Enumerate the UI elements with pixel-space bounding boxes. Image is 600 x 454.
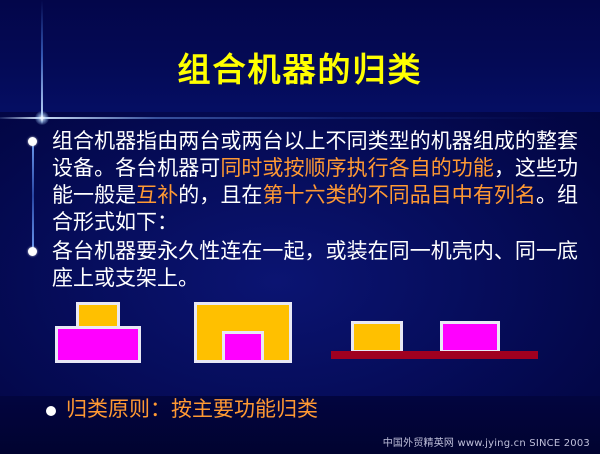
bullet-paragraph-1: 组合机器指由两台或两台以上不同类型的机器组成的整套设备。各台机器可同时或按顺序执…: [52, 128, 578, 236]
highlight-segment: 互补: [136, 183, 178, 207]
conclusion-text: 归类原则：按主要功能归类: [66, 396, 318, 423]
watermark-site-cn: 中国外贸精英网: [383, 438, 454, 449]
text-segment: 各台机器要永久性连在一起，或装在同一机壳内、同一底座上或支架上。: [52, 239, 578, 290]
round-bullet-icon: [28, 247, 37, 256]
watermark-since: SINCE 2003: [529, 438, 590, 449]
round-bullet-icon: [28, 137, 37, 146]
bullet-list: 组合机器指由两台或两台以上不同类型的机器组成的整套设备。各台机器可同时或按顺序执…: [26, 128, 578, 294]
round-bullet-icon: [46, 406, 56, 416]
text-segment: 的，且在: [178, 183, 262, 207]
highlight-segment: 同时或按顺序执行各自的功能: [220, 156, 494, 180]
watermark: 中国外贸精英网 www.jying.cn SINCE 2003: [383, 434, 590, 449]
presentation-slide: 组合机器的归类 组合机器指由两台或两台以上不同类型的机器组成的整套设备。各台机器…: [0, 0, 600, 454]
highlight-segment: 第十六类的不同品目中有列名: [262, 183, 536, 207]
list-item: 各台机器要永久性连在一起，或装在同一机壳内、同一底座上或支架上。: [26, 238, 578, 292]
watermark-url: www.jying.cn: [458, 438, 526, 449]
bullet-paragraph-2: 各台机器要永久性连在一起，或装在同一机壳内、同一底座上或支架上。: [52, 238, 578, 292]
list-item: 组合机器指由两台或两台以上不同类型的机器组成的整套设备。各台机器可同时或按顺序执…: [26, 128, 578, 236]
slide-title: 组合机器的归类: [0, 50, 600, 90]
